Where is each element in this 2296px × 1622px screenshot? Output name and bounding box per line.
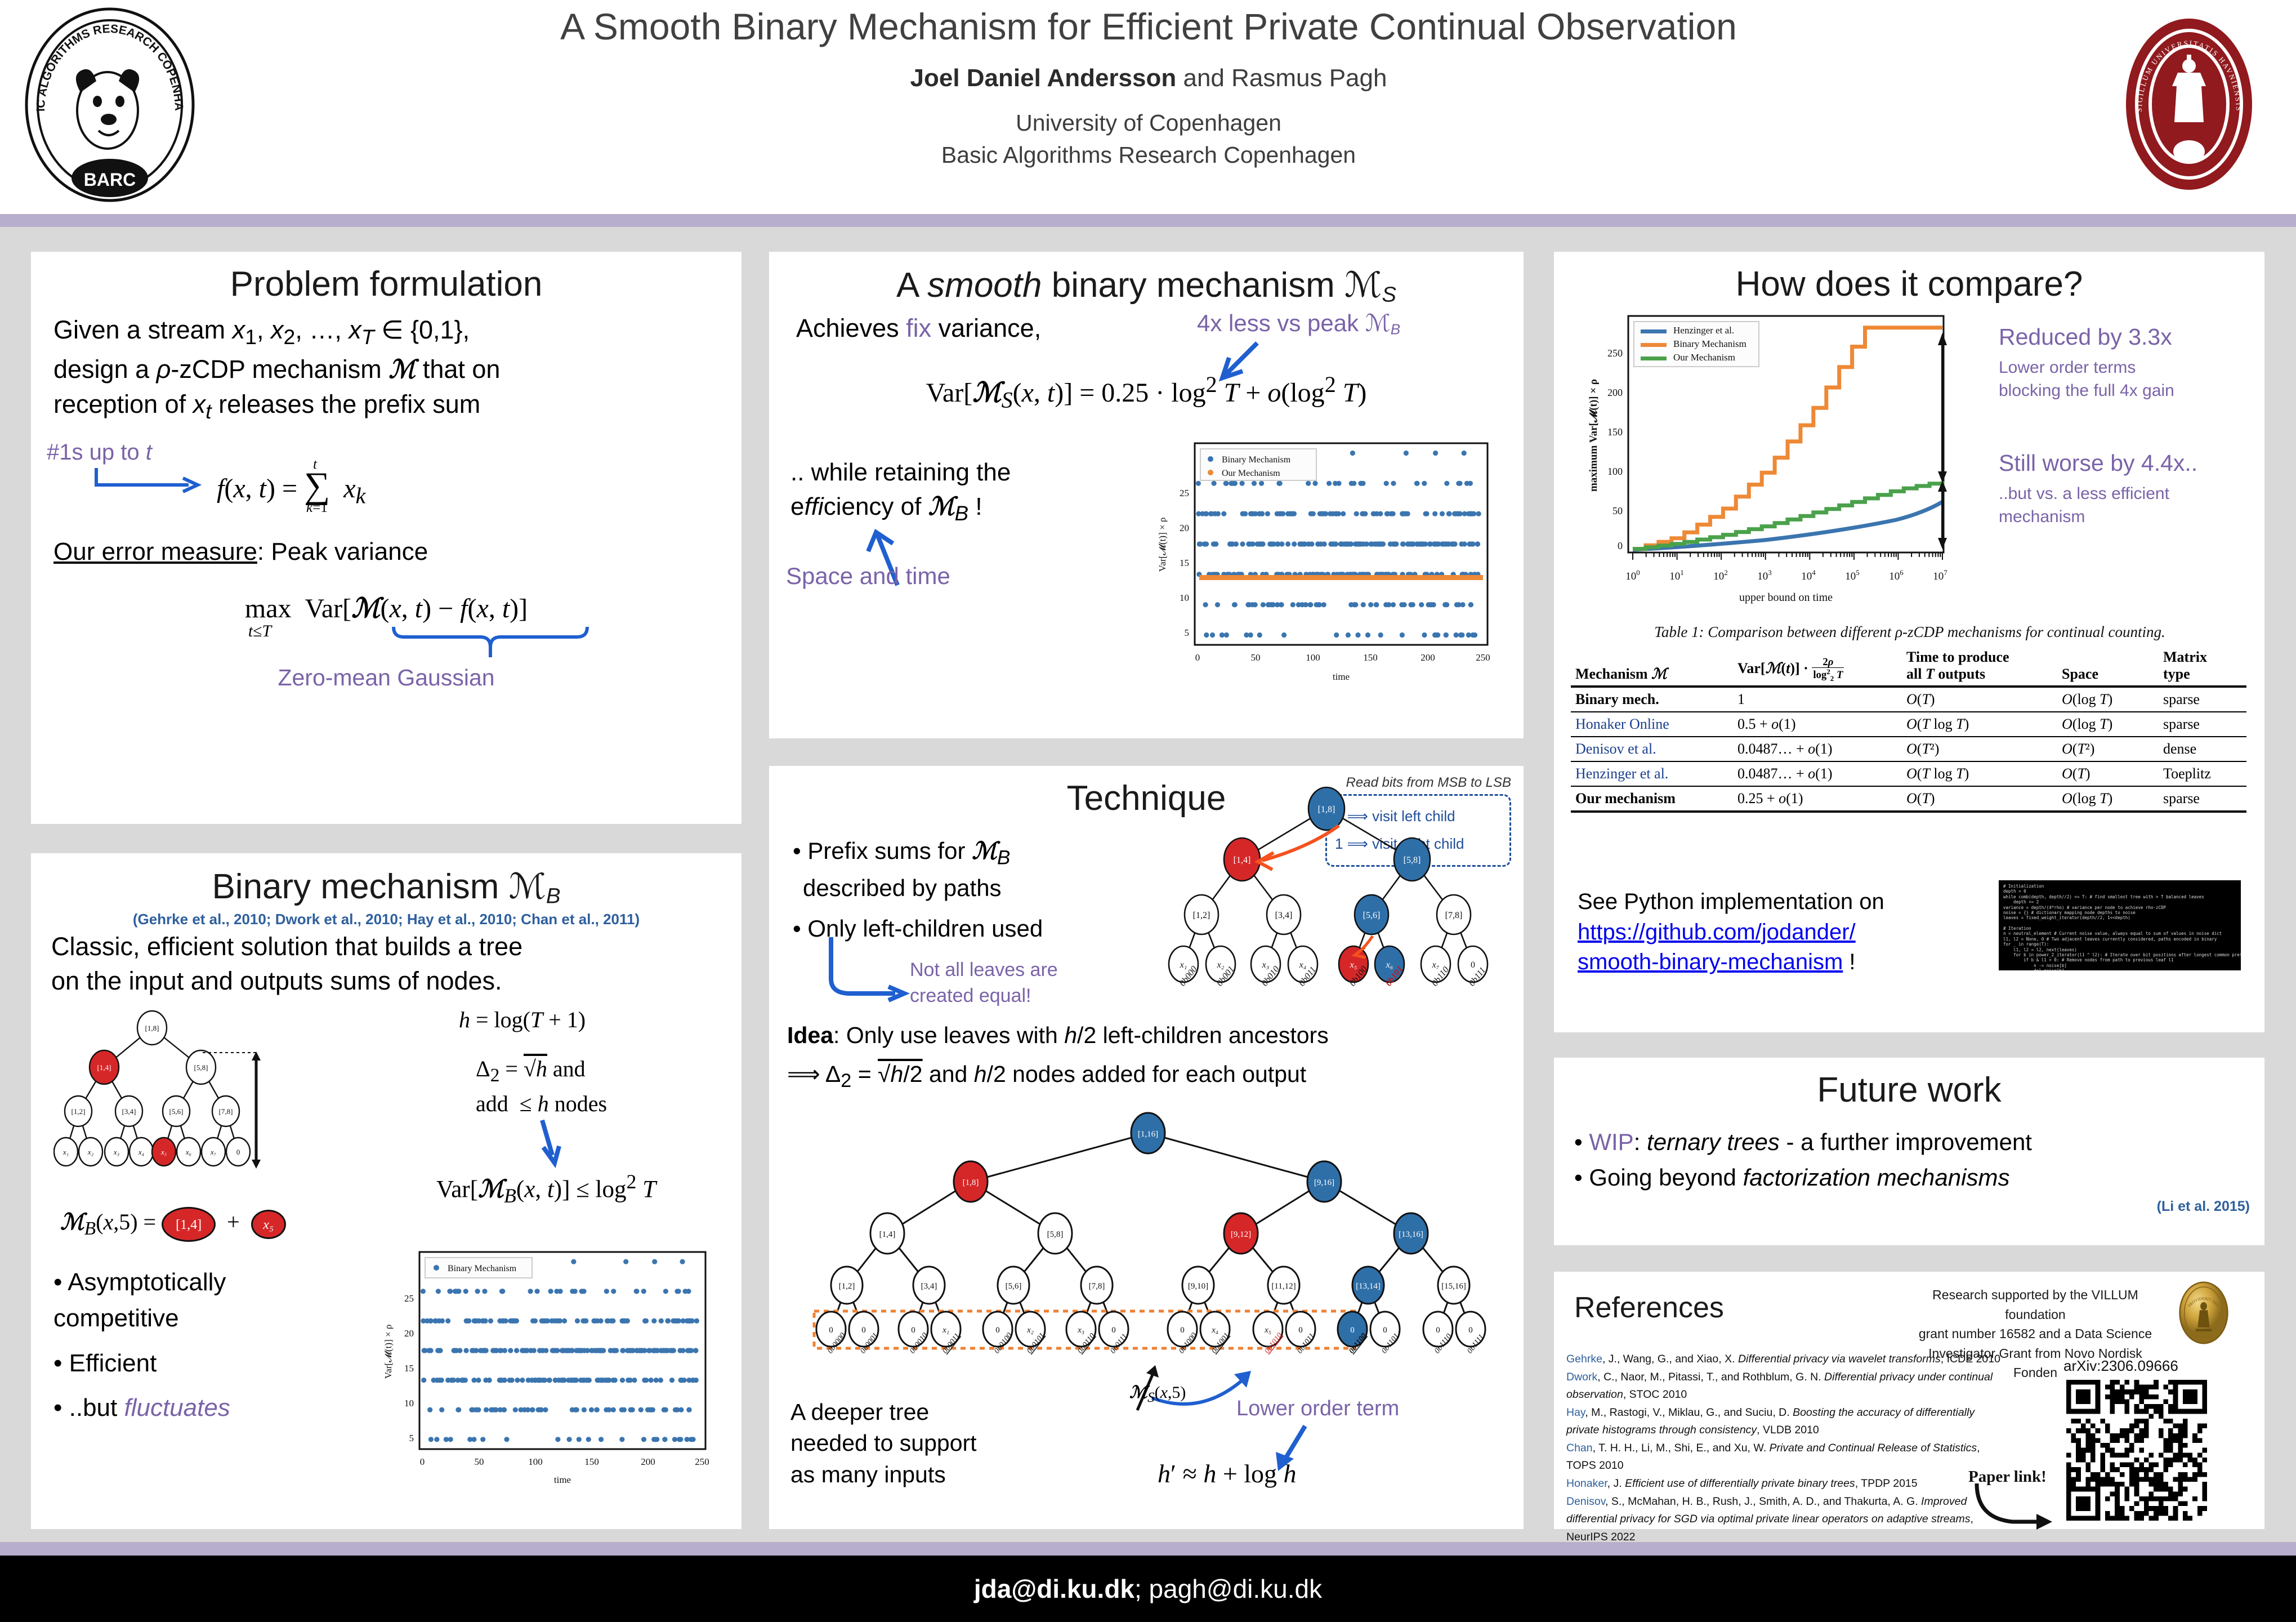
arrow-down-variance-icon	[532, 1118, 571, 1169]
svg-text:0: 0	[861, 1326, 866, 1335]
svg-text:Our Mechanism: Our Mechanism	[1222, 469, 1280, 478]
reference-entry: Dwork, C., Naor, M., Pitassi, T., and Ro…	[1566, 1369, 2005, 1404]
smooth-title-post: binary mechanism ℳ	[1042, 266, 1382, 305]
svg-text:0: 0	[1195, 652, 1200, 663]
references-title: References	[1574, 1291, 1724, 1325]
arrow-to-qr-icon	[1973, 1481, 2063, 1538]
table-row: Henzinger et al.0.0487… + o(1)O(T log T)…	[1571, 761, 2246, 786]
svg-text:[3,4]: [3,4]	[122, 1107, 136, 1116]
svg-text:x₁: x₁	[942, 1326, 949, 1335]
svg-text:[9,16]: [9,16]	[1314, 1178, 1334, 1187]
svg-text:0: 0	[1111, 1326, 1116, 1335]
th-space: Space	[2057, 646, 2159, 687]
arrow-to-prefix-sum-icon	[93, 466, 222, 500]
cell-space: O(T²)	[2057, 737, 2159, 761]
svg-text:[5,6]: [5,6]	[1363, 911, 1381, 920]
smooth-achieves-emph: fix	[906, 314, 931, 342]
cell-mechanism: Henzinger et al.	[1571, 761, 1733, 786]
reference-entry: Denisov, S., McMahan, H. B., Rush, J., S…	[1566, 1493, 2005, 1547]
cell-time: O(T²)	[1902, 737, 2057, 761]
svg-text:103: 103	[1757, 568, 1772, 582]
github-link[interactable]: https://github.com/jodander/smooth-binar…	[1578, 920, 1856, 975]
future-bullet-2-italic: factorization mechanisms	[1743, 1164, 2010, 1191]
annotation-worse-detail: ..but vs. a less efficient mechanism	[1999, 483, 2169, 528]
svg-text:[13,16]: [13,16]	[1399, 1230, 1423, 1239]
equation-prefix-sum: f(x, t) = ∑ t k=1 xk	[217, 465, 365, 509]
svg-text:x₇: x₇	[1432, 960, 1440, 970]
equation-peak-variance: max t≤T Var[ℳ(x, t) − f(x, t)]	[31, 592, 741, 624]
smooth-title-subscript: S	[1382, 282, 1396, 306]
binary-bullets: • Asymptotically competitive • Efficient…	[53, 1264, 318, 1426]
authors: Joel Daniel Andersson and Rasmus Pagh	[282, 64, 2016, 92]
error-measure-rest: : Peak variance	[257, 538, 428, 565]
annotation-count-ones: #1s up to t	[47, 440, 152, 465]
svg-text:[3,4]: [3,4]	[1275, 911, 1293, 920]
svg-text:102: 102	[1713, 568, 1728, 582]
reference-author: Chan	[1566, 1442, 1593, 1454]
code-screenshot: # Initialization depth = 0 while comb(de…	[1999, 880, 2241, 970]
svg-text:0: 0	[1298, 1326, 1303, 1335]
contact-emails: jda@di.ku.dk; pagh@di.ku.dk	[974, 1574, 1322, 1604]
svg-text:x₃: x₃	[1077, 1326, 1084, 1335]
th-time: Time to produceall T outputs	[1902, 646, 2057, 687]
reference-author: Denisov	[1566, 1495, 1605, 1508]
svg-text:[1,2]: [1,2]	[1193, 911, 1210, 920]
svg-text:[13,14]: [13,14]	[1356, 1282, 1381, 1291]
smooth-achieves: Achieves fix variance,	[796, 314, 1041, 343]
svg-text:[1,4]: [1,4]	[879, 1230, 896, 1239]
smooth-title-emph: smooth	[927, 266, 1042, 305]
smooth-retaining-line-1: .. while retaining the	[790, 456, 1128, 490]
svg-text:200: 200	[1607, 387, 1623, 398]
annotation-worse-headline: Still worse by 4.4x..	[1999, 450, 2197, 476]
binary-output-example: ℳB(x,5) = [1,4] + x₅	[60, 1207, 286, 1242]
cell-mechanism: Our mechanism	[1571, 786, 1733, 812]
svg-text:25: 25	[1180, 488, 1189, 498]
reference-entry: Honaker, J. Efficient use of differentia…	[1566, 1475, 2005, 1493]
technique-tree-16-leaves: [1,16] [1,8] [9,16] [1,4] [5,8] [9,12] […	[779, 1104, 1517, 1385]
svg-text:x₁: x₁	[1180, 960, 1187, 970]
reference-entry: Gehrke, J., Wang, G., and Xiao, X. Diffe…	[1566, 1351, 2005, 1369]
svg-text:x₇: x₇	[210, 1148, 217, 1156]
svg-text:x₁: x₁	[62, 1148, 69, 1156]
chart-binary-scatter: 25 20 15 10 5 0 50 100 150 200 250 time …	[369, 1247, 718, 1501]
barc-logo: BASIC ALGORITHMS RESEARCH COPENHAGEN BAR…	[20, 7, 200, 204]
panel-binary-mechanism: Binary mechanism ℳB (Gehrke et al., 2010…	[31, 853, 741, 1529]
svg-text:Henzinger et al.: Henzinger et al.	[1673, 325, 1734, 336]
panel-technique: Technique Read bits from MSB to LSB 0 ⟹ …	[769, 766, 1524, 1529]
svg-text:[11,12]: [11,12]	[1271, 1282, 1296, 1291]
table-caption: Table 1: Comparison between different ρ-…	[1566, 623, 2253, 641]
arrow-curve-note-icon	[825, 935, 915, 1008]
cell-time: O(T log T)	[1902, 712, 2057, 737]
svg-text:50: 50	[475, 1456, 484, 1467]
future-bullets: • WIP: ternary trees - a further improve…	[1574, 1124, 2250, 1195]
svg-text:100: 100	[1607, 466, 1623, 477]
cell-matrix: sparse	[2159, 687, 2246, 712]
svg-text:Binary Mechanism: Binary Mechanism	[1222, 455, 1291, 465]
svg-text:0: 0	[1436, 1326, 1440, 1335]
future-citation: (Li et al. 2015)	[2157, 1198, 2250, 1215]
svg-text:x₃: x₃	[1262, 960, 1270, 970]
compare-title: How does it compare?	[1554, 252, 2264, 304]
svg-text:50: 50	[1251, 652, 1261, 663]
svg-text:0: 0	[1471, 960, 1475, 970]
svg-text:[1,8]: [1,8]	[1318, 805, 1335, 814]
svg-text:0: 0	[911, 1326, 915, 1335]
svg-text:50: 50	[1612, 505, 1623, 516]
svg-text:[9,12]: [9,12]	[1231, 1230, 1251, 1239]
svg-text:[1,4]: [1,4]	[97, 1063, 111, 1072]
table-row: Our mechanism0.25 + o(1)O(T)O(log T)spar…	[1571, 786, 2246, 812]
svg-text:25: 25	[404, 1293, 414, 1304]
technique-note-line-1: Not all leaves are	[910, 957, 1058, 983]
chip-node-x5: x₅	[251, 1210, 286, 1239]
technique-deeper-line-3: as many inputs	[790, 1459, 977, 1490]
table-header-row: Mechanism ℳ Var[ℳ(t)] · 2ρ log22 T Time …	[1571, 646, 2246, 687]
svg-text:Binary Mechanism: Binary Mechanism	[1673, 338, 1746, 349]
annotation-worse-line-1: ..but vs. a less efficient	[1999, 483, 2169, 506]
svg-text:time: time	[554, 1474, 571, 1485]
reference-author: Gehrke	[1566, 1353, 1602, 1365]
cell-variance: 0.0487… + o(1)	[1733, 737, 1902, 761]
author-primary: Joel Daniel Andersson	[910, 64, 1177, 92]
svg-text:[1,8]: [1,8]	[145, 1024, 159, 1032]
reference-entry: Chan, T. H. H., Li, M., Shi, E., and Xu,…	[1566, 1440, 2005, 1475]
cell-matrix: dense	[2159, 737, 2246, 761]
reference-author: Dwork	[1566, 1371, 1597, 1383]
svg-text:x₅: x₅	[160, 1148, 167, 1156]
technique-idea-line-1: Idea: Only use leaves with h/2 left-chil…	[787, 1018, 1508, 1053]
svg-text:x₂: x₂	[87, 1148, 94, 1156]
binary-title-subscript: B	[546, 884, 561, 908]
email-primary: jda@di.ku.dk	[974, 1574, 1134, 1603]
python-bang: !	[1843, 950, 1855, 974]
problem-line-2: design a ρ-zCDP mechanism ℳ that on	[53, 352, 718, 387]
binary-title: Binary mechanism ℳB	[31, 853, 741, 908]
binary-variance-bound: Var[ℳB(x, t)] ≤ log2 T	[436, 1170, 656, 1207]
annotation-reduced-detail: Lower order terms blocking the full 4x g…	[1999, 357, 2174, 402]
qr-code-icon[interactable]	[2066, 1380, 2207, 1521]
svg-text:[7,8]: [7,8]	[1445, 911, 1463, 920]
th-variance: Var[ℳ(t)] · 2ρ log22 T	[1733, 646, 1902, 687]
annotation-zero-mean-gaussian: Zero-mean Gaussian	[31, 665, 741, 691]
svg-text:x₂: x₂	[1026, 1326, 1034, 1335]
svg-text:x₄: x₄	[1211, 1326, 1218, 1335]
svg-text:0: 0	[1618, 540, 1623, 551]
technique-bullets: • Prefix sums for ℳBdescribed by paths •…	[793, 835, 1153, 945]
affiliation-line-2: Basic Algorithms Research Copenhagen	[282, 139, 2016, 171]
svg-text:0: 0	[1350, 1326, 1355, 1335]
equation-h-prime: h′ ≈ h + log h	[1158, 1459, 1297, 1489]
svg-text:5: 5	[1185, 627, 1190, 638]
technique-note-line-2: created equal!	[910, 983, 1058, 1009]
technique-idea-line-2: ⟹ Δ2 = √h/2 and h/2 nodes added for each…	[787, 1057, 1508, 1095]
annotation-worse-line-2: mechanism	[1999, 506, 2169, 529]
svg-text:15: 15	[404, 1363, 414, 1374]
panel-future-work: Future work • WIP: ternary trees - a fur…	[1554, 1058, 2264, 1245]
svg-text:[15,16]: [15,16]	[1441, 1282, 1466, 1291]
python-line-1: See Python implementation on	[1578, 887, 1972, 917]
technique-ms-label: ℳS(x,5)	[1129, 1383, 1186, 1406]
th-matrix: Matrixtype	[2159, 646, 2246, 687]
future-bullet-1-end: - a further improvement	[1780, 1129, 2032, 1155]
annotation-lower-order-term: Lower order term	[1236, 1397, 1399, 1421]
cell-matrix: sparse	[2159, 786, 2246, 812]
smooth-title: A smooth binary mechanism ℳS	[769, 252, 1524, 307]
svg-text:Var[𝓜(t)] × ρ: Var[𝓜(t)] × ρ	[1157, 518, 1168, 572]
svg-text:100: 100	[528, 1456, 543, 1467]
annotation-4x-subscript: B	[1391, 321, 1400, 338]
problem-line-3: reception of xt releases the prefix sum	[53, 387, 718, 426]
affiliation: University of Copenhagen Basic Algorithm…	[282, 107, 2016, 172]
svg-text:10: 10	[404, 1398, 414, 1409]
table-row: Binary mech.1O(T)O(log T)sparse	[1571, 687, 2246, 712]
chart-max-variance: 250 200 150 100 50 0 100 101 102 103 104…	[1576, 310, 1976, 609]
title-block: A Smooth Binary Mechanism for Efficient …	[282, 6, 2016, 172]
problem-line-1: Given a stream x1, x2, …, xT ∈ {0,1},	[53, 313, 718, 352]
table-row: Denisov et al.0.0487… + o(1)O(T²)O(T²)de…	[1571, 737, 2246, 761]
cell-variance: 0.25 + o(1)	[1733, 786, 1902, 812]
university-seal-icon: SIGILLUM UNIVERSITATIS HAVNIENSIS	[2105, 14, 2273, 194]
problem-paragraph: Given a stream x1, x2, …, xT ∈ {0,1}, de…	[53, 313, 718, 426]
technique-note: Not all leaves are created equal!	[910, 957, 1058, 1009]
cell-space: O(T)	[2057, 761, 2159, 786]
svg-text:200: 200	[1421, 652, 1435, 663]
error-measure-label: Our error measure: Peak variance	[53, 538, 428, 566]
svg-text:Binary Mechanism: Binary Mechanism	[448, 1264, 517, 1273]
svg-text:100: 100	[1306, 652, 1320, 663]
header-divider	[0, 214, 2296, 227]
cell-time: O(T log T)	[1902, 761, 2057, 786]
smooth-retaining-line-2: efficiency of ℳB !	[790, 490, 1128, 528]
svg-text:250: 250	[1607, 347, 1623, 359]
svg-text:x₆: x₆	[185, 1148, 191, 1156]
svg-text:[3,4]: [3,4]	[921, 1282, 937, 1291]
svg-text:10: 10	[1180, 592, 1189, 603]
svg-text:[7,8]: [7,8]	[1089, 1282, 1105, 1291]
binary-line-2: on the input and outputs sums of nodes.	[51, 964, 721, 999]
future-bullet-1: • WIP: ternary trees - a further improve…	[1574, 1124, 2250, 1160]
binary-bullet-1: • Asymptotically competitive	[53, 1264, 318, 1336]
smooth-title-pre: A	[896, 266, 927, 305]
technique-deeper-line-1: A deeper tree	[790, 1397, 977, 1428]
svg-text:250: 250	[1476, 652, 1490, 663]
problem-title: Problem formulation	[31, 252, 741, 304]
svg-text:[5,8]: [5,8]	[194, 1063, 208, 1072]
binary-title-text: Binary mechanism ℳ	[212, 867, 546, 906]
table-bottom-rule	[1571, 812, 2246, 813]
cell-mechanism: Honaker Online	[1571, 712, 1733, 737]
poster-footer: jda@di.ku.dk; pagh@di.ku.dk	[0, 1556, 2296, 1622]
svg-text:150: 150	[1607, 426, 1623, 438]
funding-line-1: Research supported by the VILLUM foundat…	[1914, 1285, 2156, 1324]
svg-text:[1,8]: [1,8]	[963, 1178, 979, 1187]
panel-smooth-mechanism: A smooth binary mechanism ℳS Achieves fi…	[769, 252, 1524, 738]
comparison-table: Mechanism ℳ Var[ℳ(t)] · 2ρ log22 T Time …	[1571, 646, 2246, 813]
svg-text:0: 0	[829, 1326, 833, 1335]
binary-bullet-3: • ..but fluctuates	[53, 1390, 318, 1426]
github-link-line-1: https://github.com/jodander/	[1578, 920, 1856, 944]
svg-text:x₅: x₅	[1350, 960, 1357, 970]
smooth-achieves-post: variance,	[931, 314, 1041, 342]
chip-node-1-4: [1,4]	[162, 1207, 216, 1242]
svg-text:150: 150	[1363, 652, 1378, 663]
technique-deeper-tree: A deeper tree needed to support as many …	[790, 1397, 977, 1490]
panel-problem-formulation: Problem formulation Given a stream x1, x…	[31, 252, 741, 824]
svg-text:0: 0	[1468, 1326, 1473, 1335]
svg-text:x₆: x₆	[1386, 960, 1393, 970]
future-title: Future work	[1554, 1058, 2264, 1110]
cell-variance: 0.5 + o(1)	[1733, 712, 1902, 737]
binary-paragraph: Classic, efficient solution that builds …	[51, 930, 721, 999]
cell-variance: 1	[1733, 687, 1902, 712]
svg-text:Our Mechanism: Our Mechanism	[1673, 352, 1735, 363]
author-secondary: and Rasmus Pagh	[1176, 64, 1387, 92]
svg-text:105: 105	[1845, 568, 1860, 582]
annotation-reduced-line-2: blocking the full 4x gain	[1999, 380, 2174, 403]
svg-text:x₄: x₄	[1299, 960, 1307, 970]
svg-text:[5,8]: [5,8]	[1404, 855, 1421, 865]
technique-idea: Idea: Only use leaves with h/2 left-chil…	[787, 1018, 1508, 1095]
svg-text:[5,8]: [5,8]	[1047, 1230, 1064, 1239]
cell-time: O(T)	[1902, 687, 2057, 712]
chart-binary-vs-ours-scatter: 25 20 15 10 5 0 50 100 150 200 250 time …	[1141, 438, 1501, 702]
svg-text:5: 5	[409, 1433, 414, 1443]
technique-bullet-2: • Only left-children used	[793, 912, 1153, 945]
brace-gaussian-icon	[391, 625, 617, 662]
annotation-reduced-line-1: Lower order terms	[1999, 357, 2174, 380]
svg-text:101: 101	[1669, 568, 1684, 582]
future-bullet-2: • Going beyond factorization mechanisms	[1574, 1160, 2250, 1195]
binary-sensitivity-line-1: Δ2 = √h and	[476, 1054, 607, 1089]
cell-mechanism: Denisov et al.	[1571, 737, 1733, 761]
reference-entry: Hay, M., Rastogi, V., Miklau, G., and Su…	[1566, 1404, 2005, 1440]
github-link-line-2: smooth-binary-mechanism	[1578, 950, 1843, 974]
svg-text:20: 20	[404, 1328, 414, 1339]
binary-sensitivity-line-2: add ≤ h nodes	[476, 1089, 607, 1119]
svg-text:upper bound on time: upper bound on time	[1739, 591, 1833, 604]
binary-bullet-2: • Efficient	[53, 1345, 318, 1382]
th-mechanism: Mechanism ℳ	[1571, 646, 1733, 687]
smooth-achieves-pre: Achieves	[796, 314, 906, 342]
svg-text:15: 15	[1180, 558, 1189, 568]
svg-text:maximum Var[𝓜(t)] × ρ: maximum Var[𝓜(t)] × ρ	[1588, 379, 1600, 492]
cell-space: O(log T)	[2057, 712, 2159, 737]
technique-bullet-1: • Prefix sums for ℳBdescribed by paths	[793, 835, 1153, 904]
equation-smooth-variance: Var[ℳS(x, t)] = 0.25 · log2 T + o(log2 T…	[769, 371, 1524, 413]
svg-text:[1,2]: [1,2]	[839, 1282, 855, 1291]
error-measure-underlined: Our error measure	[53, 538, 257, 565]
svg-text:[1,16]: [1,16]	[1138, 1130, 1158, 1139]
future-bullet-1-italic: ternary trees	[1647, 1129, 1780, 1155]
technique-deeper-line-2: needed to support	[790, 1428, 977, 1459]
svg-text:200: 200	[641, 1456, 655, 1467]
table-row: Honaker Online0.5 + o(1)O(T log T)O(log …	[1571, 712, 2246, 737]
future-wip-label: WIP	[1589, 1129, 1633, 1155]
svg-text:106: 106	[1889, 568, 1904, 582]
svg-text:[7,8]: [7,8]	[219, 1107, 233, 1116]
svg-text:107: 107	[1933, 568, 1947, 582]
binary-sensitivity: Δ2 = √h and add ≤ h nodes	[476, 1054, 607, 1119]
cell-space: O(log T)	[2057, 687, 2159, 712]
reference-author: Hay	[1566, 1406, 1585, 1419]
svg-text:0: 0	[995, 1326, 1000, 1335]
svg-text:[1,4]: [1,4]	[1234, 855, 1251, 865]
cell-matrix: Toeplitz	[2159, 761, 2246, 786]
smooth-retaining-efficiency: .. while retaining the efficiency of ℳB …	[790, 456, 1128, 528]
svg-text:0: 0	[1383, 1326, 1387, 1335]
svg-text:100: 100	[1625, 568, 1640, 582]
svg-text:0: 0	[1180, 1326, 1185, 1335]
svg-text:x₂: x₂	[1217, 960, 1225, 970]
arxiv-identifier: arXiv:2306.09666	[2063, 1357, 2178, 1375]
poster-header: BASIC ALGORITHMS RESEARCH COPENHAGEN BAR…	[0, 0, 2296, 214]
annotation-reduced-headline: Reduced by 3.3x	[1999, 324, 2172, 350]
svg-text:[5,6]: [5,6]	[169, 1107, 184, 1116]
binary-height-formula: h = log(T + 1)	[459, 1006, 586, 1033]
affiliation-line-1: University of Copenhagen	[282, 107, 2016, 139]
villum-coin-icon: PROVIDEBIT DEO	[2170, 1280, 2237, 1346]
annotation-4x-text: 4x less vs peak ℳ	[1197, 310, 1391, 336]
cell-mechanism: Binary mech.	[1571, 687, 1733, 712]
binary-line-1: Classic, efficient solution that builds …	[51, 930, 721, 964]
svg-text:[9,10]: [9,10]	[1188, 1282, 1208, 1291]
email-secondary: ; pagh@di.ku.dk	[1134, 1574, 1322, 1603]
svg-text:104: 104	[1801, 568, 1816, 582]
page-title: A Smooth Binary Mechanism for Efficient …	[282, 6, 2016, 48]
svg-text:[5,6]: [5,6]	[1006, 1282, 1022, 1291]
annotation-4x-less: 4x less vs peak ℳB	[1197, 309, 1400, 338]
svg-text:Var[𝓜(t)] × ρ: Var[𝓜(t)] × ρ	[383, 1325, 394, 1379]
svg-text:x₄: x₄	[138, 1148, 145, 1156]
binary-citation: (Gehrke et al., 2010; Dwork et al., 2010…	[31, 911, 741, 928]
svg-text:0: 0	[420, 1456, 425, 1467]
svg-text:[1,2]: [1,2]	[72, 1107, 86, 1116]
svg-text:BARC: BARC	[84, 170, 136, 190]
technique-idea-label: Idea	[787, 1022, 833, 1048]
technique-tree-8-leaves: [1,8] [1,4] [5,8] [1,2] [3,4] [5,6] [7,8…	[1141, 777, 1512, 1014]
future-bullet-2-pre: Going beyond	[1589, 1164, 1743, 1191]
cell-space: O(log T)	[2057, 786, 2159, 812]
cell-time: O(T)	[1902, 786, 2057, 812]
svg-text:20: 20	[1180, 523, 1189, 533]
panel-comparison: How does it compare? 250 200 150 100 50 …	[1554, 252, 2264, 1032]
cell-matrix: sparse	[2159, 712, 2246, 737]
binary-tree-diagram: [1,8] [1,4] [5,8] [1,2] [3,4] [5,6] [7,8…	[53, 1001, 448, 1187]
python-implementation-text: See Python implementation on https://git…	[1578, 887, 1972, 978]
technique-idea-text: : Only use leaves with h/2 left-children…	[833, 1022, 1329, 1048]
svg-text:x₅: x₅	[1264, 1326, 1271, 1335]
svg-text:0: 0	[236, 1148, 240, 1156]
annotation-space-and-time: Space and time	[786, 563, 950, 590]
cell-variance: 0.0487… + o(1)	[1733, 761, 1902, 786]
reference-author: Honaker	[1566, 1477, 1607, 1490]
panel-references: References Research supported by the VIL…	[1554, 1272, 2264, 1529]
svg-text:time: time	[1333, 671, 1350, 682]
svg-text:250: 250	[695, 1456, 709, 1467]
svg-text:150: 150	[584, 1456, 599, 1467]
footer-divider	[0, 1542, 2296, 1556]
svg-text:x₃: x₃	[113, 1148, 119, 1156]
funding-line-2: grant number 16582 and a Data Science	[1914, 1324, 2156, 1344]
